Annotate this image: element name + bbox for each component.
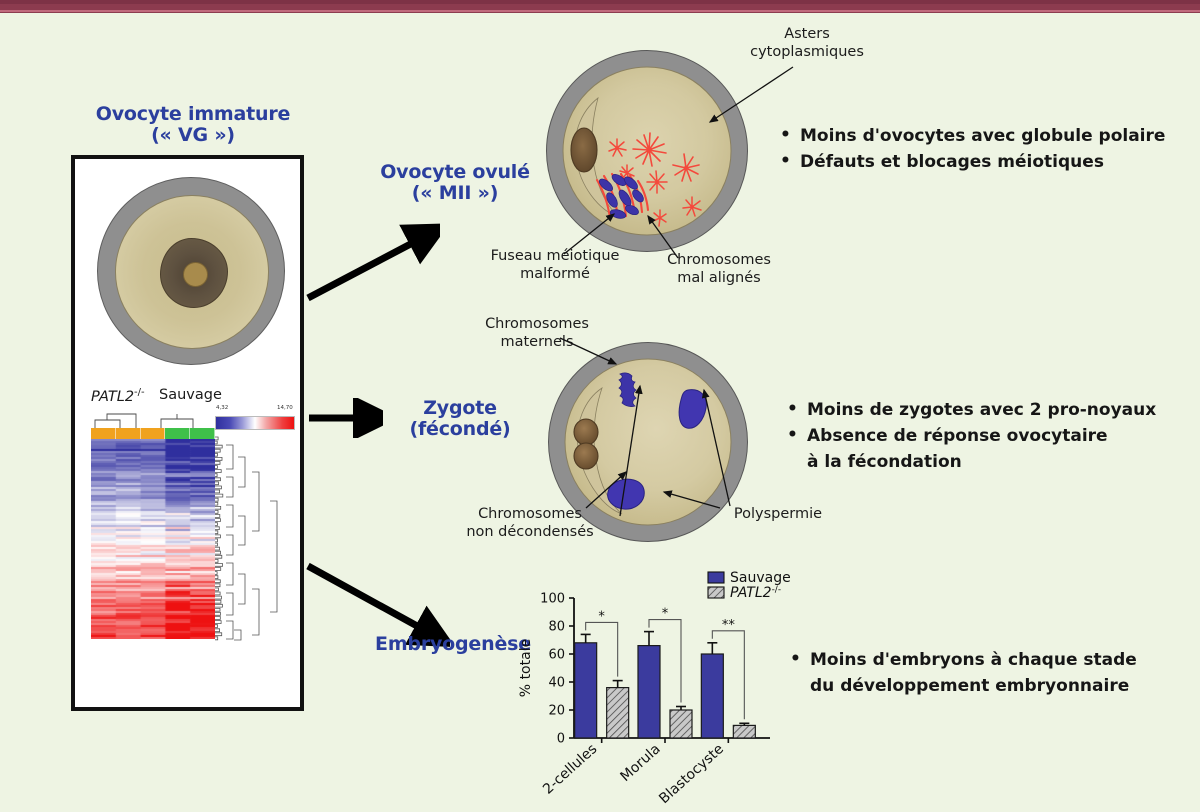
mii-polar-body <box>571 128 597 172</box>
bullet-emb-1-line2: du développement embryonnaire <box>810 674 1188 700</box>
bullet-list-mii: Moins d'ovocytes avec globule polaire Dé… <box>778 124 1178 176</box>
bullet-zyg-2-line2: à la fécondation <box>807 450 1185 476</box>
bullet-zyg-1-line1: Moins de zygotes avec 2 pro-noyaux <box>807 400 1156 420</box>
heatmap-figure: PATL2-/- Sauvage 4,32 14,70 <box>91 387 297 697</box>
stage-title-zygote-line2: (fécondé) <box>380 419 540 440</box>
annotation-maternal: Chromosomes maternels <box>462 316 612 352</box>
annotation-asters-line1: Asters <box>722 26 892 44</box>
stage-title-vg-line2: (« VG ») <box>88 125 298 146</box>
heatmap-colorbar <box>215 416 295 430</box>
heatmap-colorbar-group: 4,32 14,70 <box>215 405 297 431</box>
bullet-mii-2: Défauts et blocages méiotiques <box>778 150 1178 176</box>
bullet-list-embryo: Moins d'embryons à chaque stadedu dévelo… <box>788 648 1188 700</box>
svg-text:2-cellules: 2-cellules <box>540 741 600 798</box>
annotation-noncondensed-line2: non décondensés <box>440 524 620 542</box>
top-decorative-bar <box>0 0 1200 13</box>
annotation-misaligned-line2: mal alignés <box>644 270 794 288</box>
heatmap-column-dendrogram <box>91 411 215 428</box>
arrow-vg-to-mii <box>300 220 440 320</box>
bullet-emb-1-line1: Moins d'embryons à chaque stade <box>810 650 1137 670</box>
bullet-mii-1: Moins d'ovocytes avec globule polaire <box>778 124 1178 150</box>
heatmap-sample-mutant <box>116 428 141 439</box>
heatmap-sample-wildtype <box>190 428 215 439</box>
annotation-maternal-line1: Chromosomes <box>462 316 612 334</box>
heatmap-scale-max-label: 14,70 <box>277 405 293 411</box>
vg-nucleus <box>160 238 228 308</box>
annotation-noncondensed: Chromosomes non décondensés <box>440 506 620 542</box>
barchart-svg: 020406080100% totale****2-cellulesMorula… <box>512 566 812 806</box>
svg-text:Sauvage: Sauvage <box>730 570 791 586</box>
svg-text:**: ** <box>722 618 736 633</box>
annotation-polyspermy: Polyspermie <box>718 506 838 524</box>
svg-text:*: * <box>598 609 605 624</box>
stage-title-zygote: Zygote (fécondé) <box>380 398 540 441</box>
arrow-vg-to-zygote <box>305 398 383 438</box>
svg-text:80: 80 <box>548 620 565 635</box>
stage-title-vg-line1: Ovocyte immature <box>88 104 298 125</box>
heatmap-sample-mutant <box>141 428 166 439</box>
bullet-mii-2-line1: Défauts et blocages méiotiques <box>800 152 1104 172</box>
mii-oocyte-diagram <box>546 50 748 252</box>
annotation-asters: Asters cytoplasmiques <box>722 26 892 62</box>
heatmap-row-dendrogram <box>215 435 297 643</box>
annotation-spindle-line2: malformé <box>480 266 630 284</box>
svg-text:Morula: Morula <box>617 741 663 785</box>
heatmap-group-label-mutant-text: PATL2 <box>91 389 134 405</box>
annotation-spindle-line1: Fuseau méiotique <box>480 248 630 266</box>
stage-title-mii: Ovocyte ovulé (« MII ») <box>370 162 540 205</box>
heatmap-scale-min-label: 4,32 <box>216 405 228 411</box>
svg-text:40: 40 <box>548 676 565 691</box>
svg-text:60: 60 <box>548 648 565 663</box>
heatmap-group-label-mutant: PATL2-/- <box>91 387 145 405</box>
annotation-asters-line2: cytoplasmiques <box>722 44 892 62</box>
annotation-misaligned: Chromosomes mal alignés <box>644 252 794 288</box>
vg-nucleolus <box>183 262 208 287</box>
heatmap-sample-mutant <box>91 428 116 439</box>
vg-oocyte-diagram <box>97 177 285 365</box>
svg-text:100: 100 <box>540 592 565 607</box>
bullet-zyg-2: Absence de réponse ovocytaireà la fécond… <box>785 424 1185 476</box>
annotation-spindle: Fuseau méiotique malformé <box>480 248 630 284</box>
bullet-list-zygote: Moins de zygotes avec 2 pro-noyaux Absen… <box>785 398 1185 475</box>
svg-text:PATL2-/-: PATL2-/- <box>730 585 781 601</box>
mii-cell-content <box>546 50 748 252</box>
vg-cytoplasm <box>115 195 269 349</box>
vg-panel: PATL2-/- Sauvage 4,32 14,70 <box>71 155 304 711</box>
heatmap-sample-wildtype <box>165 428 190 439</box>
stage-title-mii-line1: Ovocyte ovulé <box>370 162 540 183</box>
stage-title-mii-line2: (« MII ») <box>370 183 540 204</box>
svg-text:Blastocyste: Blastocyste <box>656 741 727 806</box>
heatmap-group-label-wildtype: Sauvage <box>159 387 222 403</box>
annotation-noncondensed-line1: Chromosomes <box>440 506 620 524</box>
stage-title-vg: Ovocyte immature (« VG ») <box>88 104 298 147</box>
svg-text:20: 20 <box>548 704 565 719</box>
svg-text:0: 0 <box>557 732 565 747</box>
annotation-misaligned-line1: Chromosomes <box>644 252 794 270</box>
svg-text:*: * <box>662 607 669 622</box>
annotation-maternal-line2: maternels <box>462 334 612 352</box>
bullet-zyg-1: Moins de zygotes avec 2 pro-noyaux <box>785 398 1185 424</box>
heatmap-matrix <box>91 439 215 639</box>
bullet-emb-1: Moins d'embryons à chaque stadedu dévelo… <box>788 648 1188 700</box>
figure-canvas: Ovocyte immature (« VG ») PATL2-/- Sauva… <box>0 0 1200 812</box>
heatmap-sample-header-row <box>91 428 215 439</box>
annotation-polyspermy-line1: Polyspermie <box>718 506 838 524</box>
bullet-mii-1-line1: Moins d'ovocytes avec globule polaire <box>800 126 1165 146</box>
bullet-zyg-2-line1: Absence de réponse ovocytaire <box>807 426 1108 446</box>
stage-title-zygote-line1: Zygote <box>380 398 540 419</box>
embryo-development-barchart: 020406080100% totale****2-cellulesMorula… <box>512 566 812 806</box>
top-bar-highlight-line <box>0 10 1200 12</box>
heatmap-group-label-mutant-sup: -/- <box>134 387 145 398</box>
svg-text:% totale: % totale <box>518 639 534 697</box>
